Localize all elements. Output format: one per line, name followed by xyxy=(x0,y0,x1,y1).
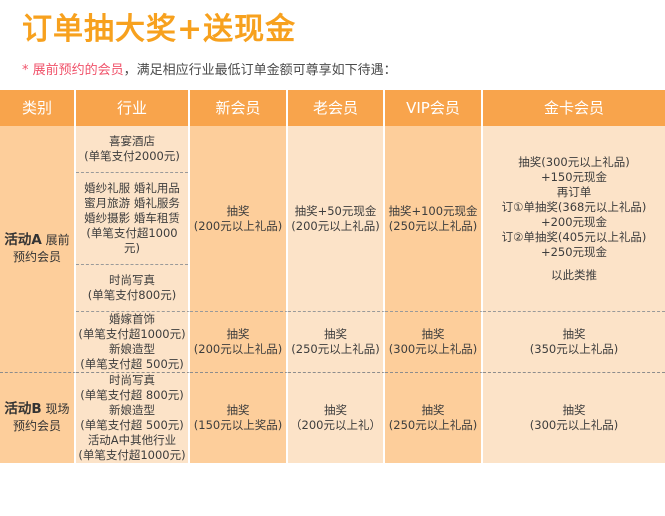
category-line2: 现场 xyxy=(46,402,70,416)
column-header-vip-member: VIP会员 xyxy=(385,90,483,126)
table-row: 婚嫁首饰 (单笔支付超1000元) 新娘造型 (单笔支付超 500元) 抽奖 (… xyxy=(0,311,665,372)
benefit-line: (250元以上礼品) xyxy=(288,342,383,357)
category-line3: 预约会员 xyxy=(13,419,61,433)
industry-line: (单笔支付超 800元) xyxy=(76,388,188,403)
column-header-new-member: 新会员 xyxy=(190,90,288,126)
industry-line: 新娘造型 xyxy=(76,403,188,418)
benefit-line: (200元以上礼品) xyxy=(288,219,383,234)
industry-line: (单笔支付超1000元) xyxy=(79,226,185,256)
page-title: 订单抽大奖+送现金 xyxy=(22,10,296,50)
industry-cell-b1: 时尚写真 (单笔支付超 800元) 新娘造型 (单笔支付超 500元) 活动A中… xyxy=(76,372,190,463)
benefit-line: (300元以上礼品) xyxy=(385,342,481,357)
column-header-category: 类别 xyxy=(0,90,76,126)
benefit-old-a1: 抽奖+50元现金 (200元以上礼品) xyxy=(288,126,385,311)
category-cell-b: 活动B 现场 预约会员 xyxy=(0,372,76,463)
category-name: 活动B xyxy=(4,401,41,417)
benefit-line: 抽奖+50元现金 xyxy=(288,204,383,219)
benefit-new-a2: 抽奖 (200元以上礼品) xyxy=(190,311,288,372)
benefit-line: 抽奖 xyxy=(385,403,481,418)
benefit-line: 抽奖 xyxy=(190,327,286,342)
benefit-line: 订①单抽奖(368元以上礼品) xyxy=(483,200,665,215)
benefit-line: 抽奖 xyxy=(190,403,286,418)
benefit-line: 抽奖 xyxy=(483,403,665,418)
benefit-line: 抽奖 xyxy=(483,327,665,342)
benefit-line: +150元现金 xyxy=(483,170,665,185)
category-cell-a: 活动A 展前 预约会员 xyxy=(0,126,76,372)
benefits-table: 类别 行业 新会员 老会员 VIP会员 金卡会员 活动A 展前 预约会员 喜宴酒… xyxy=(0,90,665,463)
benefit-line: (200元以上礼品) xyxy=(190,342,286,357)
benefit-new-a1: 抽奖 (200元以上礼品) xyxy=(190,126,288,311)
benefit-line: 再订单 xyxy=(483,185,665,200)
industry-line: 新娘造型 xyxy=(76,342,188,357)
benefit-line: 抽奖 xyxy=(288,327,383,342)
benefit-line: 抽奖(300元以上礼品) xyxy=(483,155,665,170)
benefit-gold-b1: 抽奖 (300元以上礼品) xyxy=(483,372,665,463)
benefit-line: 订②单抽奖(405元以上礼品) xyxy=(483,230,665,245)
benefit-line: (300元以上礼品) xyxy=(483,418,665,433)
subtitle-rest: ，满足相应行业最低订单金额可尊享如下待遇： xyxy=(124,63,397,78)
benefit-new-b1: 抽奖 (150元以上奖品) xyxy=(190,372,288,463)
industry-line: (单笔支付超1000元) xyxy=(76,448,188,463)
page-subtitle: * 展前预约的会员，满足相应行业最低订单金额可尊享如下待遇： xyxy=(22,62,397,80)
industry-group: 婚纱礼服 婚礼用品 蜜月旅游 婚礼服务 婚纱摄影 婚车租赁 (单笔支付超1000… xyxy=(76,173,188,265)
benefit-line: （200元以上礼） xyxy=(288,418,383,433)
benefit-spacer xyxy=(483,260,665,268)
table-header-row: 类别 行业 新会员 老会员 VIP会员 金卡会员 xyxy=(0,90,665,126)
industry-line: 喜宴酒店 xyxy=(79,134,185,149)
category-name: 活动A xyxy=(4,232,41,248)
industry-line: 蜜月旅游 婚礼服务 xyxy=(79,196,185,211)
table-row: 活动A 展前 预约会员 喜宴酒店 (单笔支付2000元) 婚纱礼服 婚礼用品 蜜… xyxy=(0,126,665,311)
benefit-line: 抽奖 xyxy=(190,204,286,219)
benefit-old-b1: 抽奖 （200元以上礼） xyxy=(288,372,385,463)
table-row: 活动B 现场 预约会员 时尚写真 (单笔支付超 800元) 新娘造型 (单笔支付… xyxy=(0,372,665,463)
category-line3: 预约会员 xyxy=(13,250,61,264)
column-header-old-member: 老会员 xyxy=(288,90,385,126)
benefit-line: 抽奖 xyxy=(288,403,383,418)
benefit-line: +200元现金 xyxy=(483,215,665,230)
industry-line: 婚嫁首饰 xyxy=(76,312,188,327)
column-header-gold-member: 金卡会员 xyxy=(483,90,665,126)
industry-line: (单笔支付2000元) xyxy=(79,149,185,164)
benefit-line: 抽奖+100元现金 xyxy=(385,204,481,219)
industry-cell-a1: 喜宴酒店 (单笔支付2000元) 婚纱礼服 婚礼用品 蜜月旅游 婚礼服务 婚纱摄… xyxy=(76,126,190,311)
benefit-vip-a2: 抽奖 (300元以上礼品) xyxy=(385,311,483,372)
benefit-vip-a1: 抽奖+100元现金 (250元以上礼品) xyxy=(385,126,483,311)
industry-line: 时尚写真 xyxy=(76,373,188,388)
industry-line: 婚纱礼服 婚礼用品 xyxy=(79,181,185,196)
column-header-industry: 行业 xyxy=(76,90,190,126)
industry-line: 时尚写真 xyxy=(79,273,185,288)
industry-line: (单笔支付超 500元) xyxy=(76,357,188,372)
benefit-line: 抽奖 xyxy=(385,327,481,342)
industry-group: 时尚写真 (单笔支付800元) xyxy=(76,265,188,311)
benefit-gold-a2: 抽奖 (350元以上礼品) xyxy=(483,311,665,372)
industry-line: (单笔支付超 500元) xyxy=(76,418,188,433)
subtitle-highlight: * 展前预约的会员 xyxy=(22,63,124,78)
benefit-line: (350元以上礼品) xyxy=(483,342,665,357)
industry-cell-a2: 婚嫁首饰 (单笔支付超1000元) 新娘造型 (单笔支付超 500元) xyxy=(76,311,190,372)
benefit-line: (250元以上礼品) xyxy=(385,418,481,433)
industry-group: 喜宴酒店 (单笔支付2000元) xyxy=(76,126,188,173)
benefit-gold-a1: 抽奖(300元以上礼品) +150元现金 再订单 订①单抽奖(368元以上礼品)… xyxy=(483,126,665,311)
industry-line: 婚纱摄影 婚车租赁 xyxy=(79,211,185,226)
benefit-old-a2: 抽奖 (250元以上礼品) xyxy=(288,311,385,372)
promo-table-page: 订单抽大奖+送现金 * 展前预约的会员，满足相应行业最低订单金额可尊享如下待遇：… xyxy=(0,0,665,516)
benefit-line: +250元现金 xyxy=(483,245,665,260)
industry-line: (单笔支付超1000元) xyxy=(76,327,188,342)
benefit-line: (150元以上奖品) xyxy=(190,418,286,433)
industry-line: 活动A中其他行业 xyxy=(76,433,188,448)
benefit-line: (250元以上礼品) xyxy=(385,219,481,234)
benefit-vip-b1: 抽奖 (250元以上礼品) xyxy=(385,372,483,463)
industry-line: (单笔支付800元) xyxy=(79,288,185,303)
benefit-line: (200元以上礼品) xyxy=(190,219,286,234)
benefit-line: 以此类推 xyxy=(483,268,665,283)
category-line2: 展前 xyxy=(46,233,70,247)
